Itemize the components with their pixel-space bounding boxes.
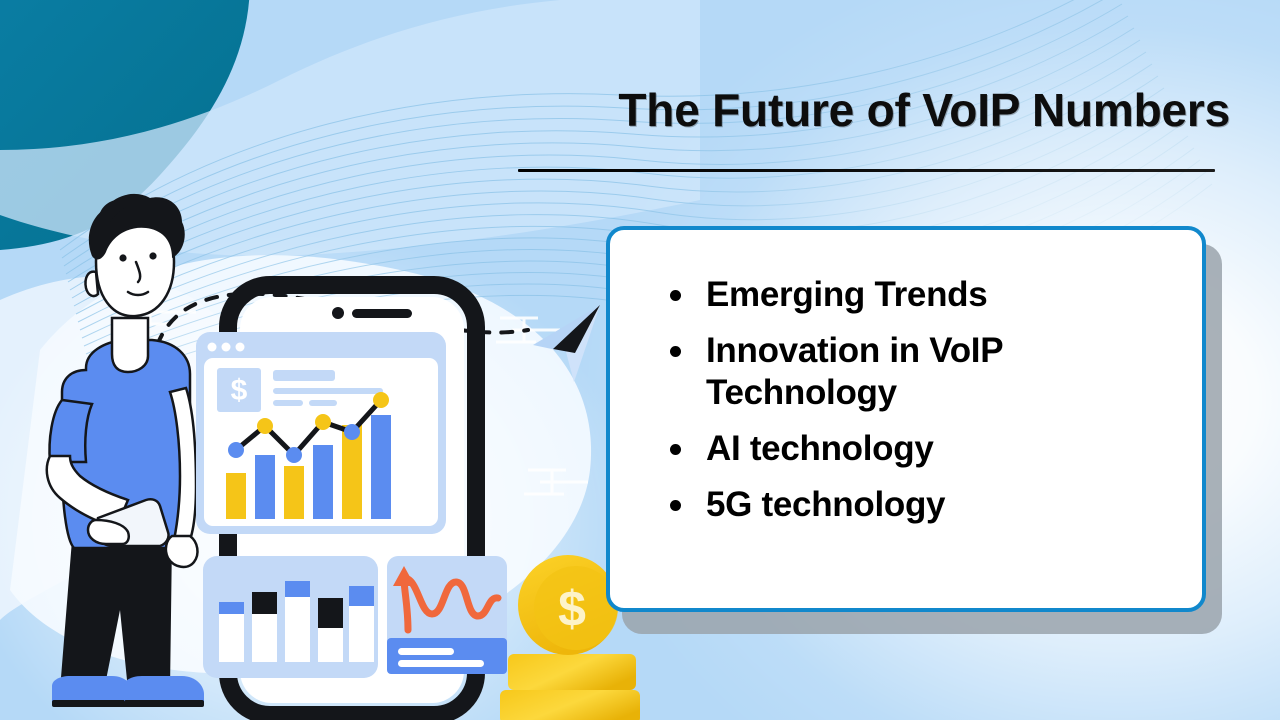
dollar-symbol: $ bbox=[231, 374, 248, 407]
person-shoes bbox=[52, 676, 204, 707]
list-item[interactable]: Emerging Trends bbox=[706, 274, 1168, 316]
bullet-dot-icon bbox=[670, 500, 681, 511]
bullet-dot-icon bbox=[670, 444, 681, 455]
phone-camera-icon bbox=[332, 307, 344, 319]
bullet-label: Emerging Trends bbox=[706, 275, 987, 314]
phone-speaker-icon bbox=[352, 309, 412, 318]
bullet-label: 5G technology bbox=[706, 485, 945, 524]
page-title: The Future of VoIP Numbers bbox=[500, 86, 1230, 134]
bullet-list: Emerging Trends Innovation in VoIP Techn… bbox=[610, 230, 1202, 526]
trend-wave-card bbox=[387, 556, 507, 674]
list-item[interactable]: AI technology bbox=[706, 428, 1168, 470]
paper-plane-icon bbox=[533, 305, 600, 382]
slide-root: $ bbox=[0, 0, 1280, 720]
person-eye-left bbox=[119, 254, 126, 261]
dashboard-card: $ bbox=[196, 332, 446, 534]
person-pants bbox=[60, 540, 172, 690]
secondary-bar-card bbox=[203, 556, 378, 678]
coin-dollar-symbol: $ bbox=[558, 581, 586, 637]
bullet-label: AI technology bbox=[706, 429, 934, 468]
window-dots-icon bbox=[208, 343, 245, 352]
list-item[interactable]: Innovation in VoIP Technology bbox=[706, 330, 1168, 414]
list-item[interactable]: 5G technology bbox=[706, 484, 1168, 526]
person-eye-right bbox=[149, 252, 156, 259]
bullet-dot-icon bbox=[670, 346, 681, 357]
title-block: The Future of VoIP Numbers bbox=[500, 86, 1230, 134]
bullet-card: Emerging Trends Innovation in VoIP Techn… bbox=[606, 226, 1206, 612]
title-underline bbox=[518, 169, 1215, 172]
trend-card-footer bbox=[387, 638, 507, 674]
bullet-label: Innovation in VoIP Technology bbox=[706, 331, 1003, 412]
bullet-dot-icon bbox=[670, 290, 681, 301]
person-illustration bbox=[47, 194, 204, 707]
person-neck bbox=[112, 318, 148, 372]
